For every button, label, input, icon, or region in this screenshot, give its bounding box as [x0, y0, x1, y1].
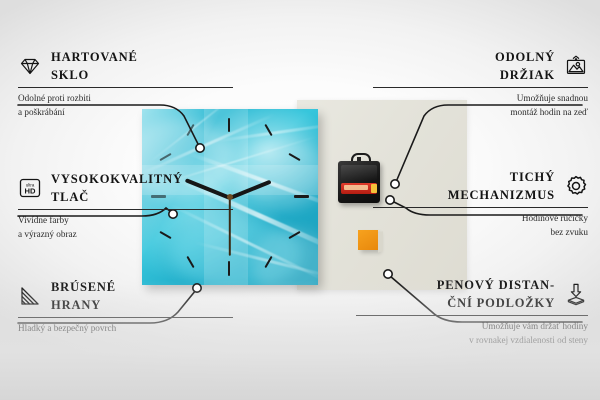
- gear-icon: [564, 174, 588, 198]
- feature-title: PENOVÝ DISTAN- ČNÍ PODLOŽKY: [437, 276, 555, 312]
- feature-title-line2: HRANY: [51, 296, 116, 314]
- feature-desc-line2: a poškrábání: [18, 106, 233, 120]
- ultra-hd-icon: ultra HD: [18, 176, 42, 200]
- feature-description: Odolné proti rozbiti a poškrábání: [18, 92, 233, 120]
- beveled-edge-icon: [18, 284, 42, 308]
- feature-head: BRÚSENÉ HRANY: [18, 278, 233, 314]
- feature-title: BRÚSENÉ HRANY: [51, 278, 116, 314]
- feature-durable-hanger: ODOLNÝ DRŽIAK Umožňuje snadnou montáž ho…: [373, 48, 588, 120]
- feature-title-line2: DRŽIAK: [495, 66, 555, 84]
- feature-head: ODOLNÝ DRŽIAK: [373, 48, 588, 84]
- divider: [373, 207, 588, 208]
- feature-head: HARTOVANÉ SKLO: [18, 48, 233, 84]
- feature-description: Hladký a bezpečný povrch: [18, 322, 233, 336]
- feature-title-line1: VYSOKOKVALITNÝ: [51, 170, 183, 188]
- feature-description: Umožňuje snadnou montáž hodin na zeď: [373, 92, 588, 120]
- feature-tempered-glass: HARTOVANÉ SKLO Odolné proti rozbiti a po…: [18, 48, 233, 120]
- feature-description: Umožňuje vám držať hodiny v rovnakej vzd…: [356, 320, 588, 348]
- feature-title: VYSOKOKVALITNÝ TLAČ: [51, 170, 183, 206]
- battery-label: [344, 185, 368, 190]
- feature-title: ODOLNÝ DRŽIAK: [495, 48, 555, 84]
- foam-spacer-icon: [564, 282, 588, 306]
- feature-desc-line2: v rovnakej vzdialenosti od steny: [356, 334, 588, 348]
- feature-title-line1: BRÚSENÉ: [51, 278, 116, 296]
- feature-ground-edges: BRÚSENÉ HRANY Hladký a bezpečný povrch: [18, 278, 233, 336]
- feature-desc-line1: Vivídne farby: [18, 214, 233, 228]
- feature-title-line1: TICHÝ: [448, 168, 555, 186]
- feature-description: Hodinové ručičky bez zvuku: [373, 212, 588, 240]
- feature-desc-line1: Hladký a bezpečný povrch: [18, 322, 233, 336]
- picture-hanger-icon: [564, 54, 588, 78]
- feature-desc-line1: Umožňuje vám držať hodiny: [356, 320, 588, 334]
- clock-tick: [228, 261, 230, 276]
- feature-desc-line2: montáž hodin na zeď: [373, 106, 588, 120]
- feature-foam-spacers: PENOVÝ DISTAN- ČNÍ PODLOŽKY Umožňuje vám…: [356, 276, 588, 348]
- feature-desc-line1: Hodinové ručičky: [373, 212, 588, 226]
- feature-desc-line2: bez zvuku: [373, 226, 588, 240]
- feature-title-line2: ČNÍ PODLOŽKY: [437, 294, 555, 312]
- feature-description: Vivídne farby a výrazný obraz: [18, 214, 233, 242]
- infographic-canvas: HARTOVANÉ SKLO Odolné proti rozbiti a po…: [0, 0, 600, 400]
- feature-desc-line2: a výrazný obraz: [18, 228, 233, 242]
- feature-title: HARTOVANÉ SKLO: [51, 48, 138, 84]
- feature-title-line2: SKLO: [51, 66, 138, 84]
- clock-tick: [294, 195, 309, 198]
- feature-title-line1: ODOLNÝ: [495, 48, 555, 66]
- diamond-icon: [18, 54, 42, 78]
- feature-head: TICHÝ MECHANIZMUS: [373, 168, 588, 204]
- feature-high-quality-print: ultra HD VYSOKOKVALITNÝ TLAČ Vivídne far…: [18, 170, 233, 242]
- divider: [18, 317, 233, 318]
- divider: [18, 209, 233, 210]
- feature-head: PENOVÝ DISTAN- ČNÍ PODLOŽKY: [356, 276, 588, 312]
- feature-title-line2: TLAČ: [51, 188, 183, 206]
- svg-text:HD: HD: [25, 187, 36, 196]
- feature-head: ultra HD VYSOKOKVALITNÝ TLAČ: [18, 170, 233, 206]
- feature-silent-mechanism: TICHÝ MECHANIZMUS Hodinové ručičky bez z…: [373, 168, 588, 240]
- mechanism-highlight: [341, 165, 377, 181]
- feature-title-line1: HARTOVANÉ: [51, 48, 138, 66]
- feature-title-line2: MECHANIZMUS: [448, 186, 555, 204]
- clock-tick: [228, 118, 230, 132]
- divider: [373, 87, 588, 88]
- divider: [18, 87, 233, 88]
- divider: [356, 315, 588, 316]
- feature-title-line1: PENOVÝ DISTAN-: [437, 276, 555, 294]
- feature-desc-line1: Odolné proti rozbiti: [18, 92, 233, 106]
- feature-title: TICHÝ MECHANIZMUS: [448, 168, 555, 204]
- feature-desc-line1: Umožňuje snadnou: [373, 92, 588, 106]
